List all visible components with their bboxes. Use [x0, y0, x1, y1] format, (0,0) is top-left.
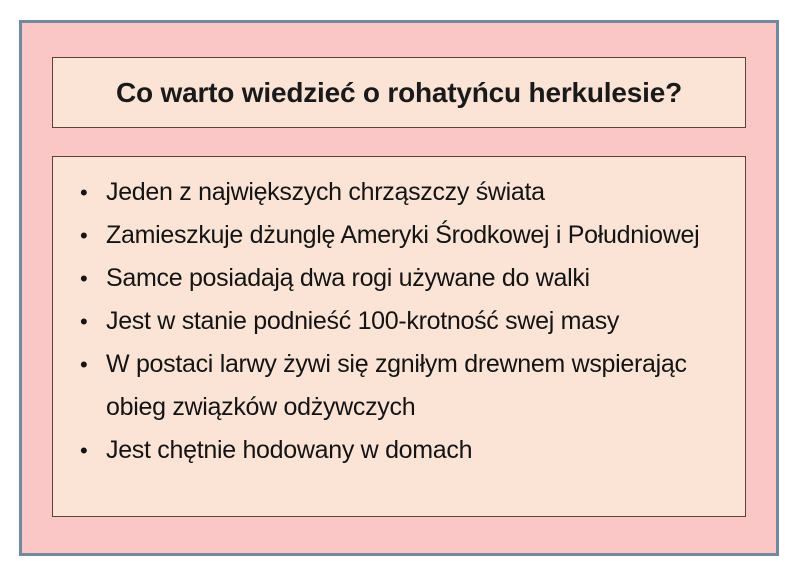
bullet-point-icon: •	[80, 300, 94, 343]
list-item-label: Jest chętnie hodowany w domach	[106, 429, 726, 472]
list-item: • Jeden z największych chrząszczy świata	[69, 171, 729, 214]
bullet-point-icon: •	[80, 171, 94, 214]
bullet-point-icon: •	[80, 429, 94, 472]
list-item-label: Samce posiadają dwa rogi używane do walk…	[106, 257, 726, 300]
list-item: • Jest w stanie podnieść 100-krotność sw…	[69, 300, 729, 343]
bullet-point-icon: •	[80, 214, 94, 257]
slide-canvas: Co warto wiedzieć o rohatyńcu herkulesie…	[0, 0, 800, 576]
list-item: • Jest chętnie hodowany w domach	[69, 429, 729, 472]
page-title: Co warto wiedzieć o rohatyńcu herkulesie…	[116, 77, 682, 109]
bullet-point-icon: •	[80, 343, 94, 386]
bullet-list: • Jeden z największych chrząszczy świata…	[69, 171, 729, 472]
list-item-label: W postaci larwy żywi się zgniłym drewnem…	[106, 343, 726, 429]
list-item: • W postaci larwy żywi się zgniłym drewn…	[69, 343, 729, 429]
slide-content-box: • Jeden z największych chrząszczy świata…	[52, 156, 746, 517]
list-item-label: Jest w stanie podnieść 100-krotność swej…	[106, 300, 726, 343]
list-item-label: Jeden z największych chrząszczy świata	[106, 171, 726, 214]
list-item: • Zamieszkuje dżunglę Ameryki Środkowej …	[69, 214, 729, 257]
slide-title-box: Co warto wiedzieć o rohatyńcu herkulesie…	[52, 57, 746, 128]
list-item: • Samce posiadają dwa rogi używane do wa…	[69, 257, 729, 300]
bullet-point-icon: •	[80, 257, 94, 300]
list-item-label: Zamieszkuje dżunglę Ameryki Środkowej i …	[106, 214, 726, 257]
presentation-slide: Co warto wiedzieć o rohatyńcu herkulesie…	[19, 20, 779, 556]
